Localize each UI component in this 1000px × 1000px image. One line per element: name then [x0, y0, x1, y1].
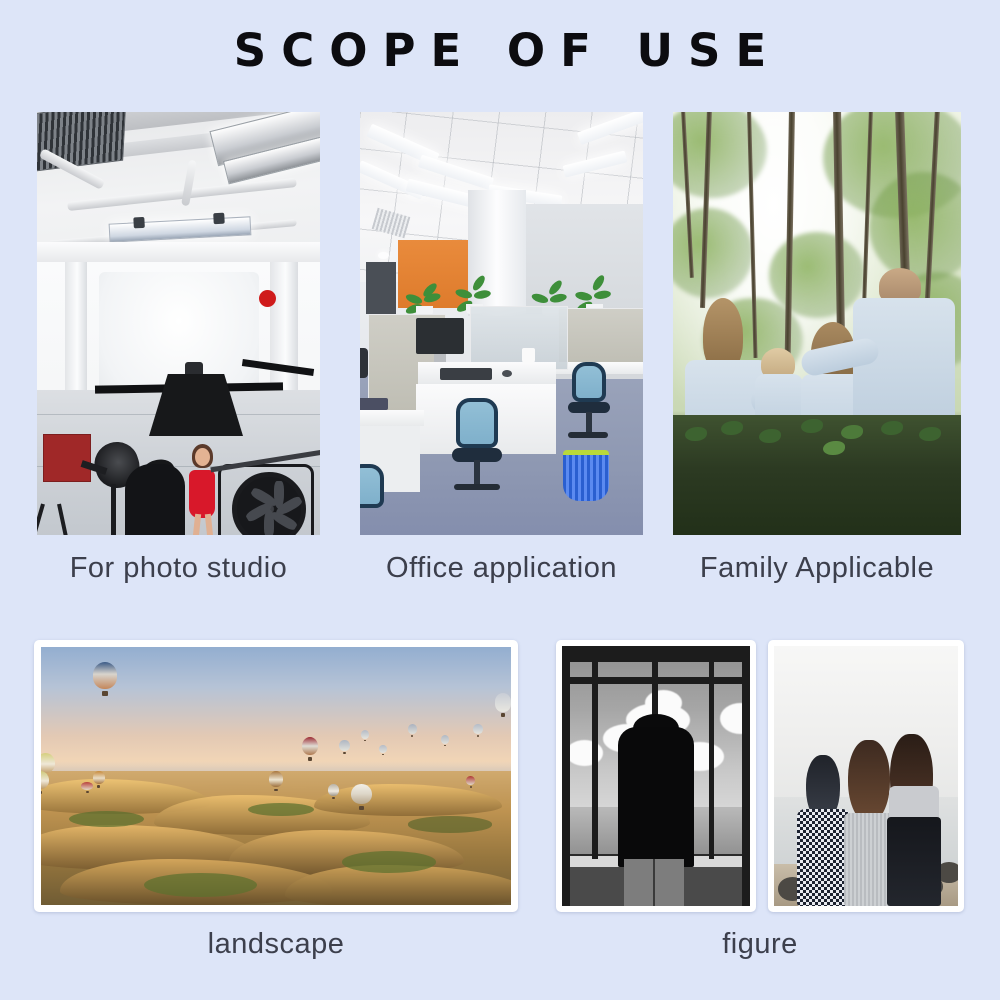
balloon-basket — [364, 740, 366, 742]
hot-air-balloon — [495, 693, 511, 716]
hot-air-balloon — [351, 784, 372, 810]
desk-item — [360, 398, 388, 410]
hot-air-balloon — [269, 771, 283, 792]
chair-post — [586, 412, 592, 432]
balloon-basket — [477, 735, 479, 737]
window-mullion — [592, 646, 598, 859]
balloon-basket — [41, 791, 42, 794]
office-desk — [360, 410, 424, 426]
balloon-basket — [444, 745, 446, 747]
black-skirt — [887, 817, 941, 906]
caption-for-photo-studio: For photo studio — [37, 552, 320, 585]
hot-air-balloon — [473, 724, 482, 737]
balloon-envelope — [302, 737, 318, 755]
balloon-basket — [97, 785, 100, 787]
chair-back — [456, 398, 498, 448]
man-silhouette — [618, 727, 693, 867]
balloon-basket — [86, 791, 89, 792]
infographic-page: SCOPE OF USE — [0, 0, 1000, 1000]
vegetation-patch — [342, 851, 436, 872]
cloud — [566, 740, 604, 766]
caption-office-application: Office application — [360, 552, 643, 585]
vegetation-patch — [408, 816, 493, 832]
caption-landscape: landscape — [34, 928, 518, 961]
doorway — [366, 262, 396, 314]
trouser-gap — [653, 859, 655, 906]
hot-air-balloon — [379, 745, 387, 755]
hot-air-balloon — [328, 784, 339, 799]
photo-three-girls — [774, 646, 958, 906]
balloon-envelope — [379, 745, 387, 753]
man-trousers — [624, 859, 684, 906]
wall-column — [65, 262, 87, 392]
keyboard — [440, 368, 492, 380]
window-mullion — [562, 646, 570, 906]
photo-card-landscape — [34, 640, 518, 912]
chair-post — [474, 460, 480, 486]
red-equipment-case — [43, 434, 91, 482]
balloon-envelope — [408, 724, 417, 734]
red-wall-marker — [259, 290, 276, 307]
chair-base — [454, 484, 500, 490]
balloon-envelope — [495, 693, 511, 711]
page-title: SCOPE OF USE — [0, 26, 1000, 76]
mouse — [502, 370, 512, 377]
model-head — [195, 448, 210, 466]
balloon-envelope — [81, 782, 93, 790]
chair-base — [568, 432, 608, 438]
balloon-envelope — [41, 771, 49, 789]
balloon-envelope — [93, 771, 105, 784]
recessed-spotlight — [378, 252, 389, 259]
caption-figure: figure — [556, 928, 964, 961]
hot-air-balloon — [466, 776, 474, 788]
balloon-basket — [411, 735, 413, 737]
hot-air-balloon — [41, 771, 49, 794]
balloon-basket — [274, 789, 277, 792]
plant-leaf — [593, 290, 611, 300]
waste-bin — [563, 450, 609, 501]
photo-for-photo-studio — [37, 112, 320, 535]
vegetation-patch — [144, 873, 257, 897]
balloon-basket — [470, 786, 472, 788]
plant-leaf — [455, 288, 473, 300]
photo-office-application — [360, 112, 643, 535]
balloon-basket — [382, 754, 384, 755]
chair-back — [572, 362, 606, 402]
balloon-envelope — [339, 740, 349, 751]
photographer-body — [125, 464, 185, 535]
balloon-envelope — [473, 724, 482, 734]
balloon-basket — [359, 806, 364, 810]
balloon-basket — [102, 691, 108, 696]
hot-air-balloon — [339, 740, 349, 754]
balloon-basket — [332, 797, 335, 799]
hot-air-balloon — [93, 662, 117, 696]
plant-leaf — [473, 289, 491, 300]
hot-air-balloon — [81, 782, 93, 792]
balloon-envelope — [269, 771, 283, 787]
balloon-envelope — [351, 784, 372, 804]
balloon-envelope — [361, 730, 369, 739]
rock-ridge — [314, 784, 502, 816]
hot-air-balloon — [408, 724, 417, 737]
model-red-dress — [189, 470, 215, 518]
light-stand-pole — [111, 484, 116, 535]
photo-figure-bw — [562, 646, 750, 906]
computer-monitor — [416, 318, 464, 354]
cubicle-partition — [470, 306, 568, 370]
girl-right — [884, 734, 943, 906]
balloon-basket — [343, 752, 345, 754]
photo-family-applicable — [673, 112, 961, 535]
plant-leaf — [531, 292, 550, 305]
photo-card-three-girls — [768, 640, 964, 912]
light-clamp — [213, 213, 225, 225]
photo-landscape — [41, 647, 511, 905]
water-bottle — [360, 348, 368, 378]
balloon-envelope — [466, 776, 474, 785]
chair-back — [360, 464, 384, 508]
light-clamp — [133, 217, 145, 229]
balloon-envelope — [328, 784, 339, 796]
hot-air-balloon — [441, 735, 449, 747]
hot-air-balloon — [361, 730, 369, 742]
hot-air-balloon — [93, 771, 105, 788]
cubicle-partition — [558, 308, 643, 366]
photo-card-figure-bw — [556, 640, 756, 912]
hot-air-balloon — [302, 737, 318, 760]
balloon-basket — [308, 757, 312, 760]
paper-cup — [522, 348, 535, 364]
forest-floor — [673, 415, 961, 535]
balloon-basket — [501, 713, 505, 716]
caption-family-applicable: Family Applicable — [673, 552, 961, 585]
monitor-stand — [434, 354, 446, 362]
tree-foliage — [769, 232, 865, 318]
window-mullion — [742, 646, 750, 906]
balloon-envelope — [93, 662, 117, 688]
plant-leaf — [575, 291, 593, 302]
balloon-envelope — [441, 735, 449, 744]
window-mullion — [709, 646, 715, 859]
